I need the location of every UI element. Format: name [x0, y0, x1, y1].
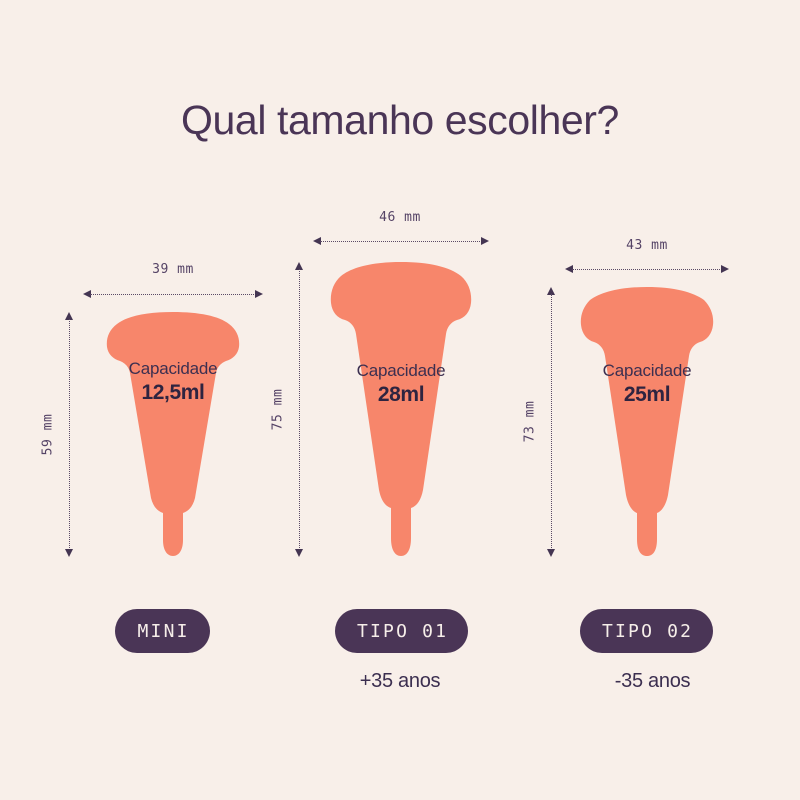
width-label-tipo-01: 46 mm — [355, 210, 445, 225]
height-label-tipo-01: 75 mm — [271, 375, 286, 445]
badge-tipo-02[interactable]: TIPO 02 — [580, 609, 713, 653]
dimension-line — [69, 319, 70, 550]
cup-svg-tipo-02 — [580, 287, 714, 557]
width-dimension-mini — [83, 288, 263, 302]
height-label-mini: 59 mm — [41, 400, 56, 470]
arrow-down-icon — [295, 549, 303, 557]
badge-tipo-01[interactable]: TIPO 01 — [335, 609, 468, 653]
dimension-line — [320, 241, 482, 242]
dimension-line — [299, 269, 300, 550]
cup-shape-tipo-01: Capacidade 28ml — [330, 262, 472, 557]
height-dimension-tipo-01 — [293, 262, 307, 557]
cup-shape-tipo-02: Capacidade 25ml — [580, 287, 714, 557]
height-label-tipo-02: 73 mm — [523, 387, 538, 457]
infographic-page: Qual tamanho escolher? 39 mm 59 mm Capac… — [0, 0, 800, 800]
cup-shape-mini: Capacidade 12,5ml — [103, 312, 243, 557]
age-label-tipo-02: -35 anos — [520, 670, 785, 693]
cup-column-tipo-02: 43 mm 73 mm Capacidade 25ml TIPO 02 -35 … — [520, 0, 785, 800]
dimension-line — [572, 269, 722, 270]
cup-svg-tipo-01 — [330, 262, 472, 557]
arrow-down-icon — [547, 549, 555, 557]
cup-svg-mini — [103, 312, 243, 557]
arrow-down-icon — [65, 549, 73, 557]
width-dimension-tipo-01 — [313, 235, 489, 249]
arrow-right-icon — [255, 290, 263, 298]
cup-column-mini: 39 mm 59 mm Capacidade 12,5ml MINI — [20, 0, 280, 800]
height-dimension-tipo-02 — [545, 287, 559, 557]
width-dimension-tipo-02 — [565, 263, 729, 277]
dimension-line — [551, 294, 552, 550]
width-label-mini: 39 mm — [128, 262, 218, 277]
dimension-line — [90, 294, 256, 295]
arrow-right-icon — [721, 265, 729, 273]
width-label-tipo-02: 43 mm — [602, 238, 692, 253]
badge-mini[interactable]: MINI — [115, 609, 210, 653]
height-dimension-mini — [63, 312, 77, 557]
age-label-tipo-01: +35 anos — [265, 670, 535, 693]
arrow-right-icon — [481, 237, 489, 245]
cup-column-tipo-01: 46 mm 75 mm Capacidade 28ml TIPO 01 +35 … — [265, 0, 535, 800]
